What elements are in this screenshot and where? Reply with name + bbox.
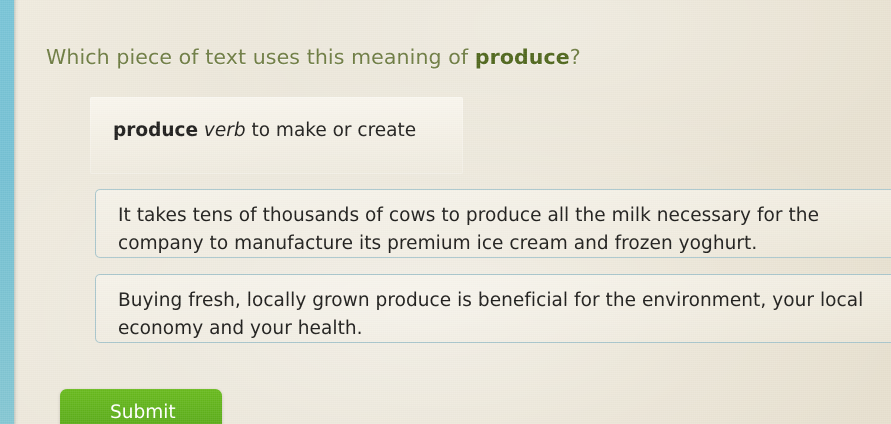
answer-option[interactable]: Buying fresh, locally grown produce is b… bbox=[95, 274, 891, 343]
definition-card: produce verb to make or create bbox=[90, 97, 463, 174]
answer-option-text: Buying fresh, locally grown produce is b… bbox=[118, 287, 891, 343]
question-prompt-prefix: Which piece of text uses this meaning of bbox=[46, 45, 475, 69]
definition-term: produce bbox=[113, 120, 198, 141]
question-prompt: Which piece of text uses this meaning of… bbox=[46, 43, 581, 71]
answer-option[interactable]: It takes tens of thousands of cows to pr… bbox=[95, 189, 891, 258]
question-prompt-suffix: ? bbox=[570, 45, 581, 69]
definition-text: produce verb to make or create bbox=[113, 118, 416, 144]
quiz-content: Which piece of text uses this meaning of… bbox=[0, 0, 891, 424]
definition-part-of-speech: verb bbox=[204, 120, 246, 141]
definition-gloss: to make or create bbox=[251, 120, 416, 141]
submit-button[interactable]: Submit bbox=[60, 389, 222, 424]
answer-option-text: It takes tens of thousands of cows to pr… bbox=[118, 202, 891, 258]
question-prompt-keyword: produce bbox=[475, 45, 570, 69]
quiz-screen: Which piece of text uses this meaning of… bbox=[0, 0, 891, 424]
